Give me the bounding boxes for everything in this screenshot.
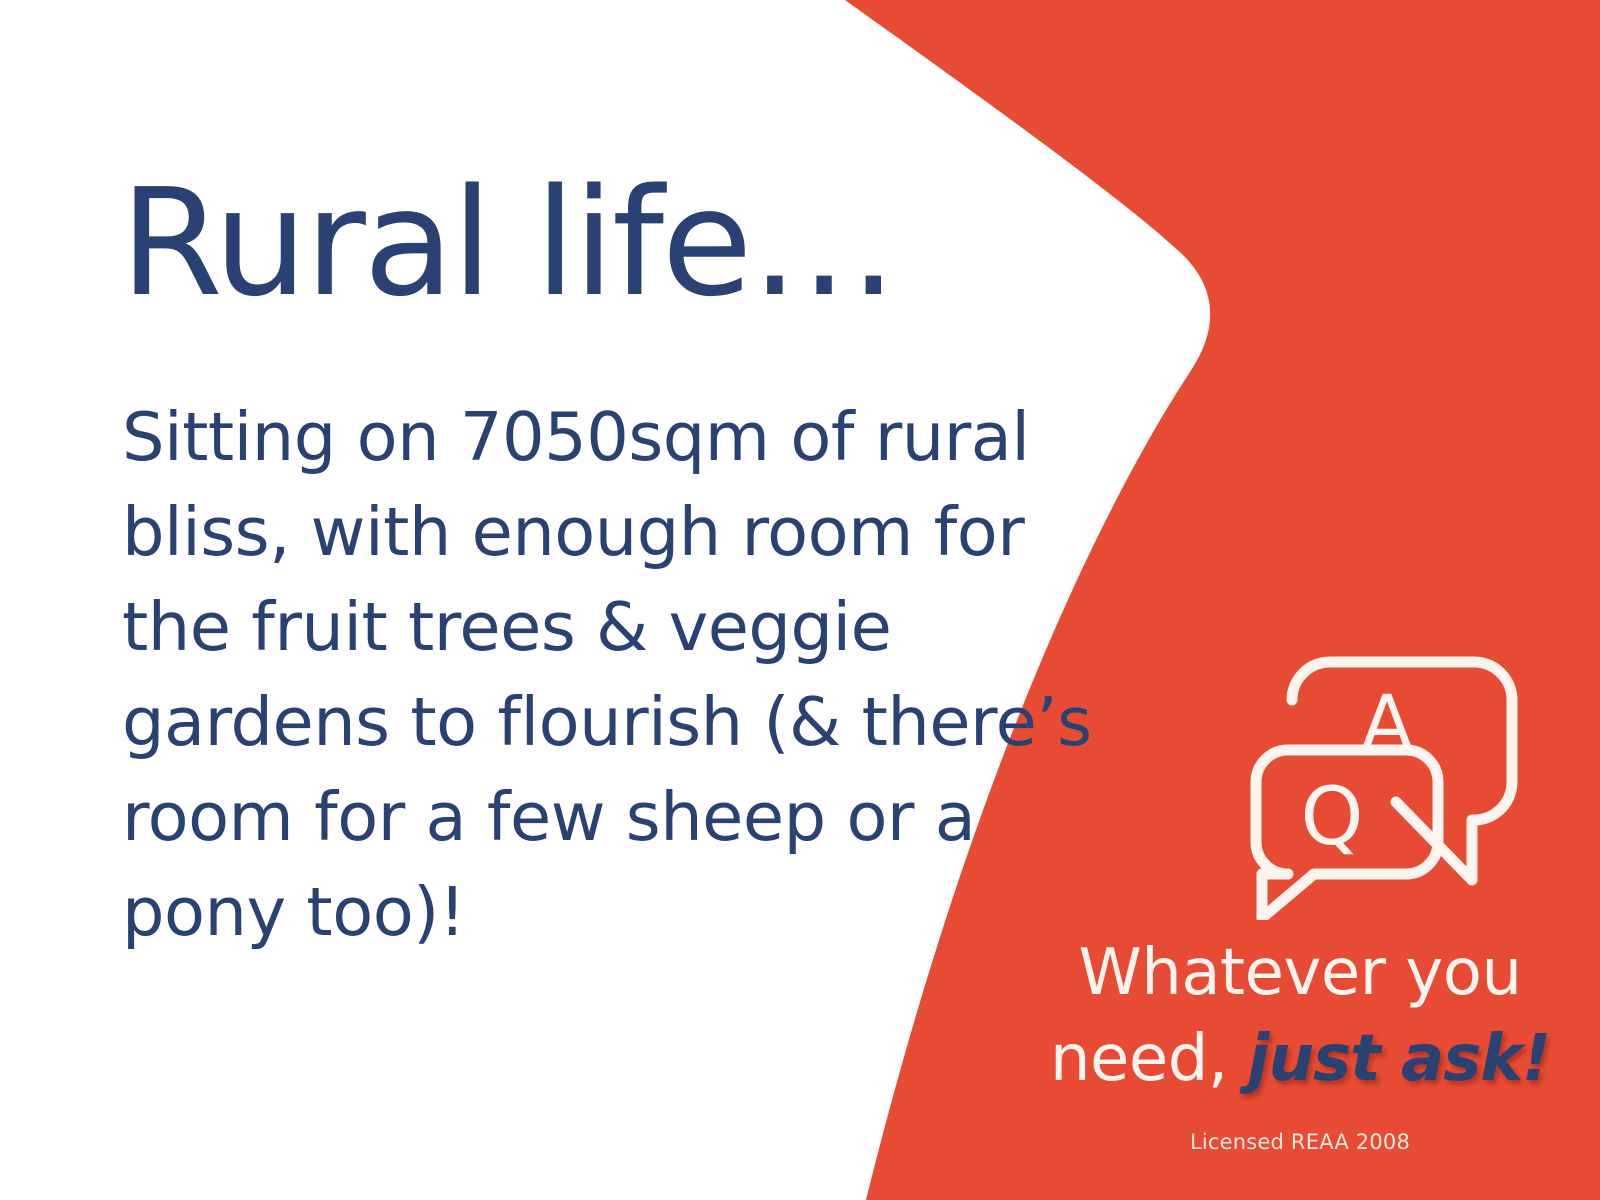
body-line: the fruit trees & veggie xyxy=(122,580,978,675)
body-copy: Sitting on 7050sqm of rural bliss, with … xyxy=(122,390,978,960)
qa-speech-bubbles-icon: A Q xyxy=(1210,620,1530,920)
body-line: Sitting on 7050sqm of rural xyxy=(122,390,978,485)
brand-block: A Q Whatever you need, just ask! License… xyxy=(1000,600,1600,1200)
tagline: Whatever you need, just ask! xyxy=(1000,930,1600,1102)
question-letter: Q xyxy=(1301,770,1364,863)
answer-letter: A xyxy=(1361,678,1413,767)
body-line: room for a few sheep or a xyxy=(122,770,978,865)
tagline-accent: just ask! xyxy=(1248,1022,1551,1096)
page-title: Rural life… xyxy=(120,168,896,319)
promo-card: Rural life… Sitting on 7050sqm of rural … xyxy=(0,0,1600,1200)
legal-notice: Licensed REAA 2008 xyxy=(1000,1130,1600,1154)
editorial-column: Rural life… Sitting on 7050sqm of rural … xyxy=(120,0,980,1200)
body-line: gardens to flourish (& there’s xyxy=(122,675,978,770)
tagline-line-2: need, just ask! xyxy=(1000,1016,1600,1102)
body-line: bliss, with enough room for xyxy=(122,485,978,580)
body-line: pony too)! xyxy=(122,865,978,960)
tagline-prefix: need, xyxy=(1050,1022,1228,1096)
tagline-line-1: Whatever you xyxy=(1000,930,1600,1016)
